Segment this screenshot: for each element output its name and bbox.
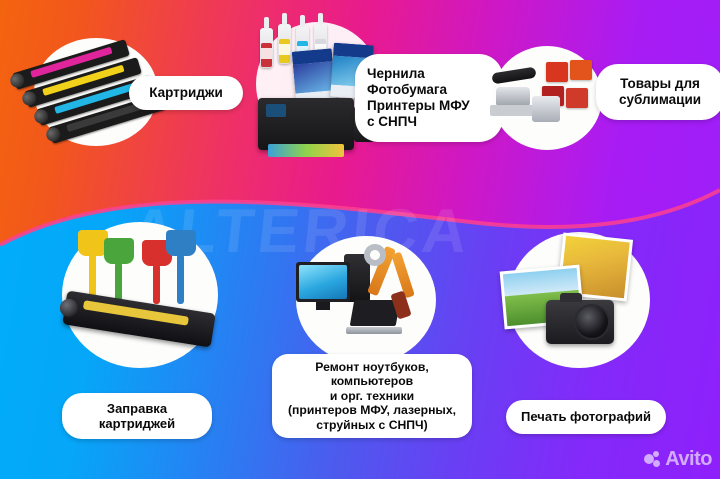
label-refill-line-1: Заправка — [99, 401, 175, 416]
label-repair-line-2: компьютеров — [288, 374, 456, 388]
label-refill[interactable]: Заправка картриджей — [62, 393, 212, 439]
label-repair-line-1: Ремонт ноутбуков, — [288, 360, 456, 374]
label-photo-print-text: Печать фотографий — [521, 409, 651, 424]
label-sublimation-line-2: сублимации — [619, 92, 701, 108]
label-repair-line-5: струйных с СНПЧ) — [288, 418, 456, 432]
label-sublimation-line-1: Товары для — [619, 76, 701, 92]
label-repair[interactable]: Ремонт ноутбуков, компьютеров и орг. тех… — [272, 354, 472, 438]
refill-artwork — [58, 224, 226, 372]
label-cartridges-text: Картриджи — [149, 85, 223, 101]
avito-logo-icon — [644, 451, 661, 468]
label-ink-printers[interactable]: Чернила Фотобумага Принтеры МФУ с СНПЧ — [355, 54, 503, 142]
label-ink-line-3: Принтеры МФУ — [367, 98, 470, 114]
label-cartridges[interactable]: Картриджи — [129, 76, 243, 110]
label-ink-line-4: с СНПЧ — [367, 114, 470, 130]
label-repair-line-3: и орг. техники — [288, 389, 456, 403]
label-repair-line-4: (принтеров МФУ, лазерных, — [288, 403, 456, 417]
sublimation-artwork — [486, 52, 612, 144]
avito-watermark: Avito — [644, 448, 712, 471]
repair-artwork — [290, 240, 442, 364]
promo-banner: ALTERICA Картриджи Чернила Фотобумага Пр… — [0, 0, 720, 479]
label-ink-line-1: Чернила — [367, 66, 470, 82]
photo-print-artwork — [500, 234, 658, 370]
label-sublimation[interactable]: Товары для сублимации — [596, 64, 720, 120]
avito-wordmark: Avito — [665, 448, 712, 471]
label-ink-line-2: Фотобумага — [367, 82, 470, 98]
label-photo-print[interactable]: Печать фотографий — [506, 400, 666, 434]
label-refill-line-2: картриджей — [99, 416, 175, 431]
